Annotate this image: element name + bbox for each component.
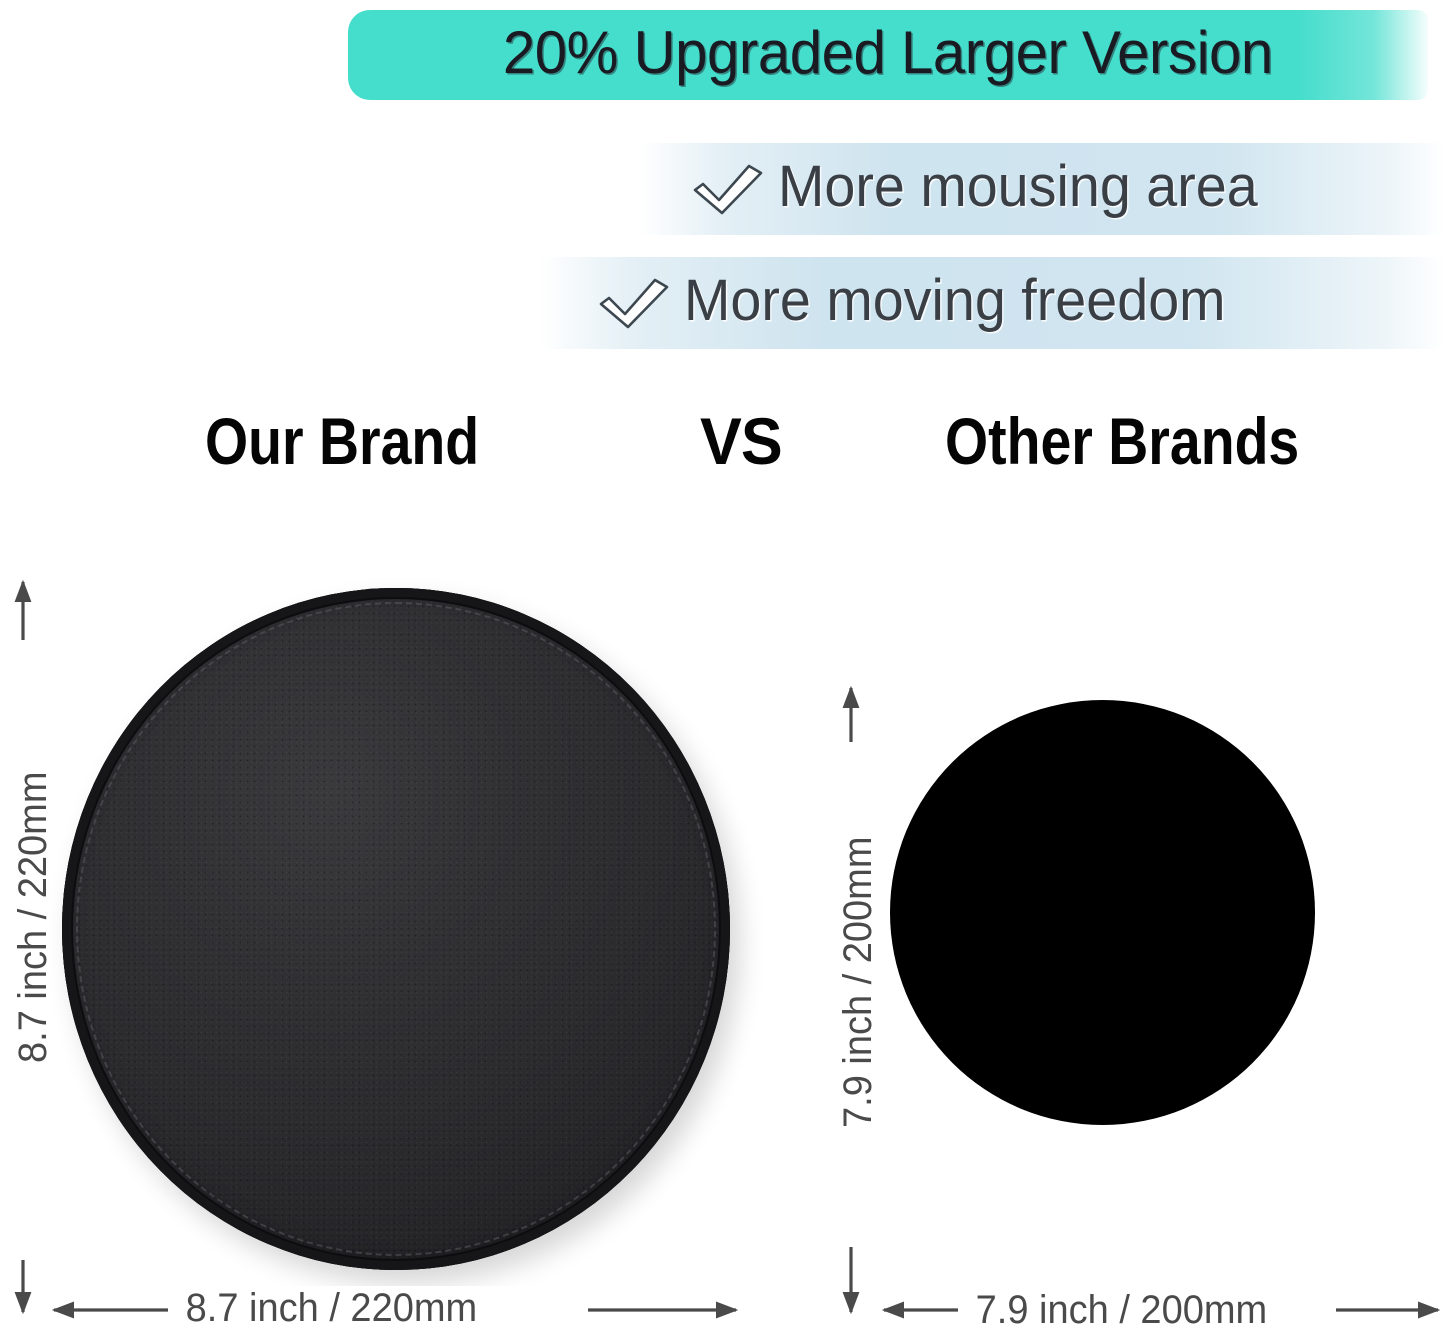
size-comparison-infographic: 20% Upgraded Larger Version More mousing… xyxy=(0,0,1445,1334)
check-icon xyxy=(692,160,764,218)
heading-our-brand: Our Brand xyxy=(205,398,479,484)
dimension-label-ours-height: 8.7 inch / 220mm xyxy=(13,797,53,1063)
feature-row-moving-freedom: More moving freedom xyxy=(540,257,1445,349)
dimension-label-other-width: 7.9 inch / 200mm xyxy=(976,1290,1267,1330)
upgrade-banner: 20% Upgraded Larger Version xyxy=(348,10,1428,100)
feature-label-moving-freedom: More moving freedom xyxy=(684,272,1226,335)
feature-row-mousing-area: More mousing area xyxy=(640,143,1445,235)
heading-vs: VS xyxy=(700,398,782,484)
comparison-heading-row: Our Brand VS Other Brands xyxy=(0,398,1445,484)
feature-label-mousing-area: More mousing area xyxy=(778,158,1258,221)
product-image-our-brand-mousepad xyxy=(62,588,730,1270)
heading-other-brands: Other Brands xyxy=(945,398,1299,484)
dimension-label-ours-width: 8.7 inch / 220mm xyxy=(186,1288,477,1328)
dimension-label-other-height: 7.9 inch / 200mm xyxy=(838,862,878,1128)
check-icon xyxy=(598,274,670,332)
upgrade-banner-text: 20% Upgraded Larger Version xyxy=(503,23,1273,87)
product-image-other-brand-mousepad xyxy=(890,700,1315,1125)
